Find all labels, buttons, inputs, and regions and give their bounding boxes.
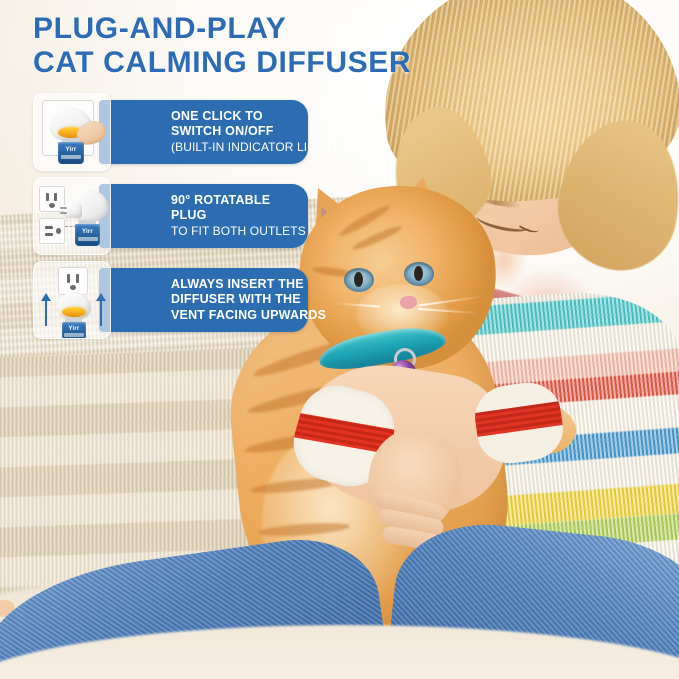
outlet-ground [56,228,61,234]
feature-callout-vent-facing-upwards: ALWAYS INSERT THE DIFFUSER WITH THE VENT… [33,261,308,339]
feature-line-2: PLUG [171,208,300,224]
outlet-slot [67,274,70,283]
feature-callout-rotatable-plug: 90° ROTATABLE PLUG TO FIT BOTH OUTLETS [33,177,308,255]
plug-prong [60,207,67,209]
feature-banner: 90° ROTATABLE PLUG TO FIT BOTH OUTLETS [99,184,308,248]
outlet-slot [45,226,53,229]
feature-line-3: TO FIT BOTH OUTLETS [171,224,300,240]
bottle-brand-label: Yirr [75,229,100,236]
diffuser-vent [62,307,86,317]
thumb-scene: Yirr [34,94,110,170]
feature-callout-list: ONE CLICK TO SWITCH ON/OFF (BUILT-IN IND… [33,93,308,345]
feature-line-2: DIFFUSER WITH THE [171,292,300,308]
feature-callout-one-click-switch: ONE CLICK TO SWITCH ON/OFF (BUILT-IN IND… [33,93,308,171]
outlet-slot [54,193,57,201]
headline-line-1: PLUG-AND-PLAY [33,12,411,46]
outlet-ground [49,203,55,208]
feature-line-3: (BUILT-IN INDICATOR LIGHT) [171,140,300,156]
bottle-sub-band [78,237,98,241]
finger-pressing-diffuser-icon: Yirr [33,93,111,171]
bottle-brand-label: Yirr [58,147,84,154]
outlet-horizontal [39,218,65,244]
feature-line-2: SWITCH ON/OFF [171,124,300,140]
feature-line-1: ALWAYS INSERT THE [171,277,300,293]
refill-bottle: Yirr [62,322,86,339]
feature-banner: ONE CLICK TO SWITCH ON/OFF (BUILT-IN IND… [99,100,308,164]
kitten-eye-left [344,268,374,292]
bottle-brand-label: Yirr [62,326,86,333]
product-marketing-poster: PLUG-AND-PLAY CAT CALMING DIFFUSER ONE C… [0,0,679,679]
thumb-scene: Yirr [34,178,110,254]
rotatable-plug-two-outlets-icon: Yirr [33,177,111,255]
bottle-sub-band [61,155,82,159]
feature-line-3: VENT FACING UPWARDS [171,308,300,324]
diffuser-vent-up-arrows-icon: Yirr [33,261,111,339]
up-arrow-right-icon [100,300,102,326]
outlet-ground [70,285,76,290]
page-title: PLUG-AND-PLAY CAT CALMING DIFFUSER [33,12,411,80]
refill-bottle: Yirr [75,224,100,246]
outlet-slot [45,233,53,236]
feature-line-1: 90° ROTATABLE [171,193,300,209]
refill-bottle: Yirr [58,142,84,164]
plug-prongs-housing [64,204,82,218]
feature-line-1: ONE CLICK TO [171,109,300,125]
outlet-slot [76,274,79,283]
cuff-red-band [471,400,567,438]
wall-outlet [58,267,88,295]
feature-banner: ALWAYS INSERT THE DIFFUSER WITH THE VENT… [99,268,308,332]
bottle-sub-band [64,333,83,337]
plug-prong [60,212,67,214]
up-arrow-left-icon [45,300,47,326]
kitten-eye-right [404,262,434,286]
thumb-scene: Yirr [34,262,110,338]
outlet-slot [46,193,49,201]
headline-line-2: CAT CALMING DIFFUSER [33,46,411,80]
